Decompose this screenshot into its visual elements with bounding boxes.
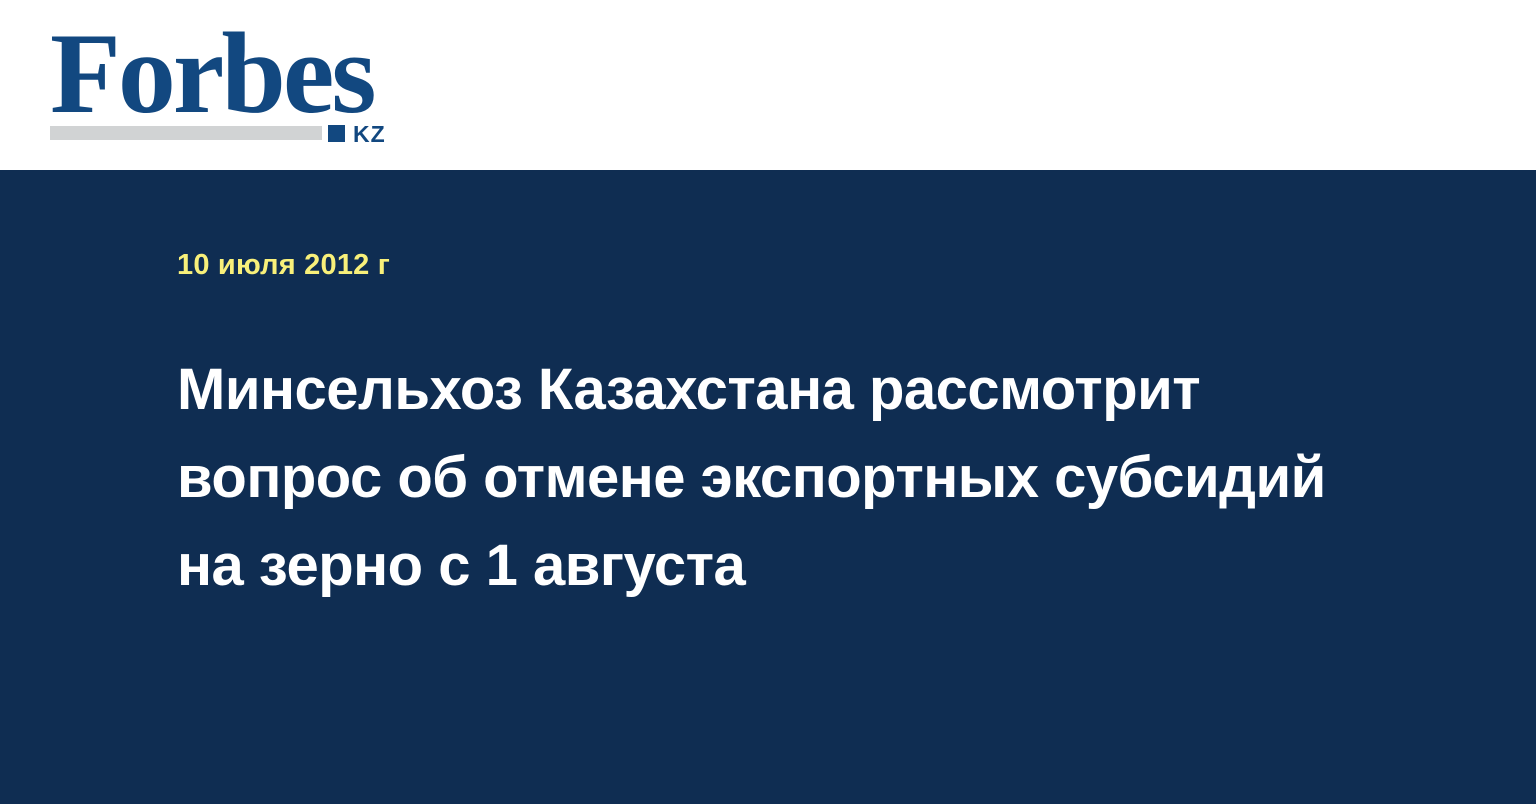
square-icon [328, 125, 345, 142]
forbes-kz-logo[interactable]: Forbes KZ [50, 24, 416, 142]
hero-banner: 10 июля 2012 г Минсельхоз Казахстана рас… [0, 170, 1536, 804]
article-hero-page: Forbes KZ 10 июля 2012 г Минсельхоз Каза… [0, 0, 1536, 804]
gray-rule-icon [50, 126, 322, 140]
site-header: Forbes KZ [0, 0, 1536, 170]
page-title: Минсельхоз Казахстана рассмотрит вопрос … [177, 346, 1377, 610]
forbes-wordmark: Forbes [50, 24, 410, 124]
logo-country-suffix: KZ [353, 123, 386, 146]
article-date: 10 июля 2012 г [177, 248, 390, 282]
